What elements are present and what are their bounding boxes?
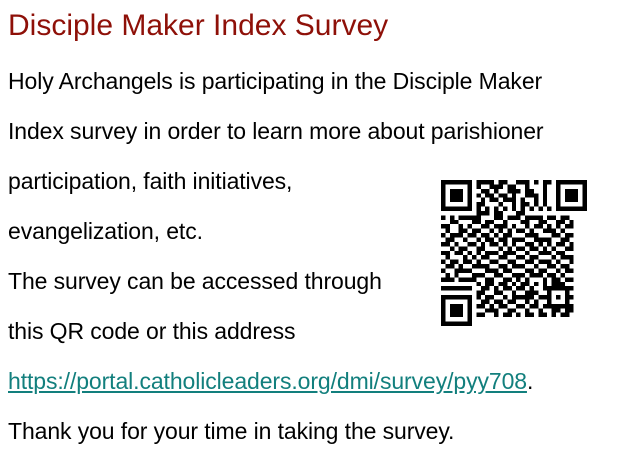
survey-link-line: https://portal.catholicleaders.org/dmi/s… xyxy=(8,356,622,406)
survey-link-period: . xyxy=(527,368,533,394)
survey-flyer-page: Disciple Maker Index Survey Holy Archang… xyxy=(0,0,622,472)
qr-code-canvas xyxy=(441,180,587,326)
body-line-1: Holy Archangels is participating in the … xyxy=(8,56,622,106)
page-title: Disciple Maker Index Survey xyxy=(8,8,388,44)
closing-line: Thank you for your time in taking the su… xyxy=(8,406,622,456)
body-line-2: Index survey in order to learn more abou… xyxy=(8,106,622,156)
qr-code-icon[interactable] xyxy=(441,180,587,326)
survey-url-link[interactable]: https://portal.catholicleaders.org/dmi/s… xyxy=(8,368,527,394)
